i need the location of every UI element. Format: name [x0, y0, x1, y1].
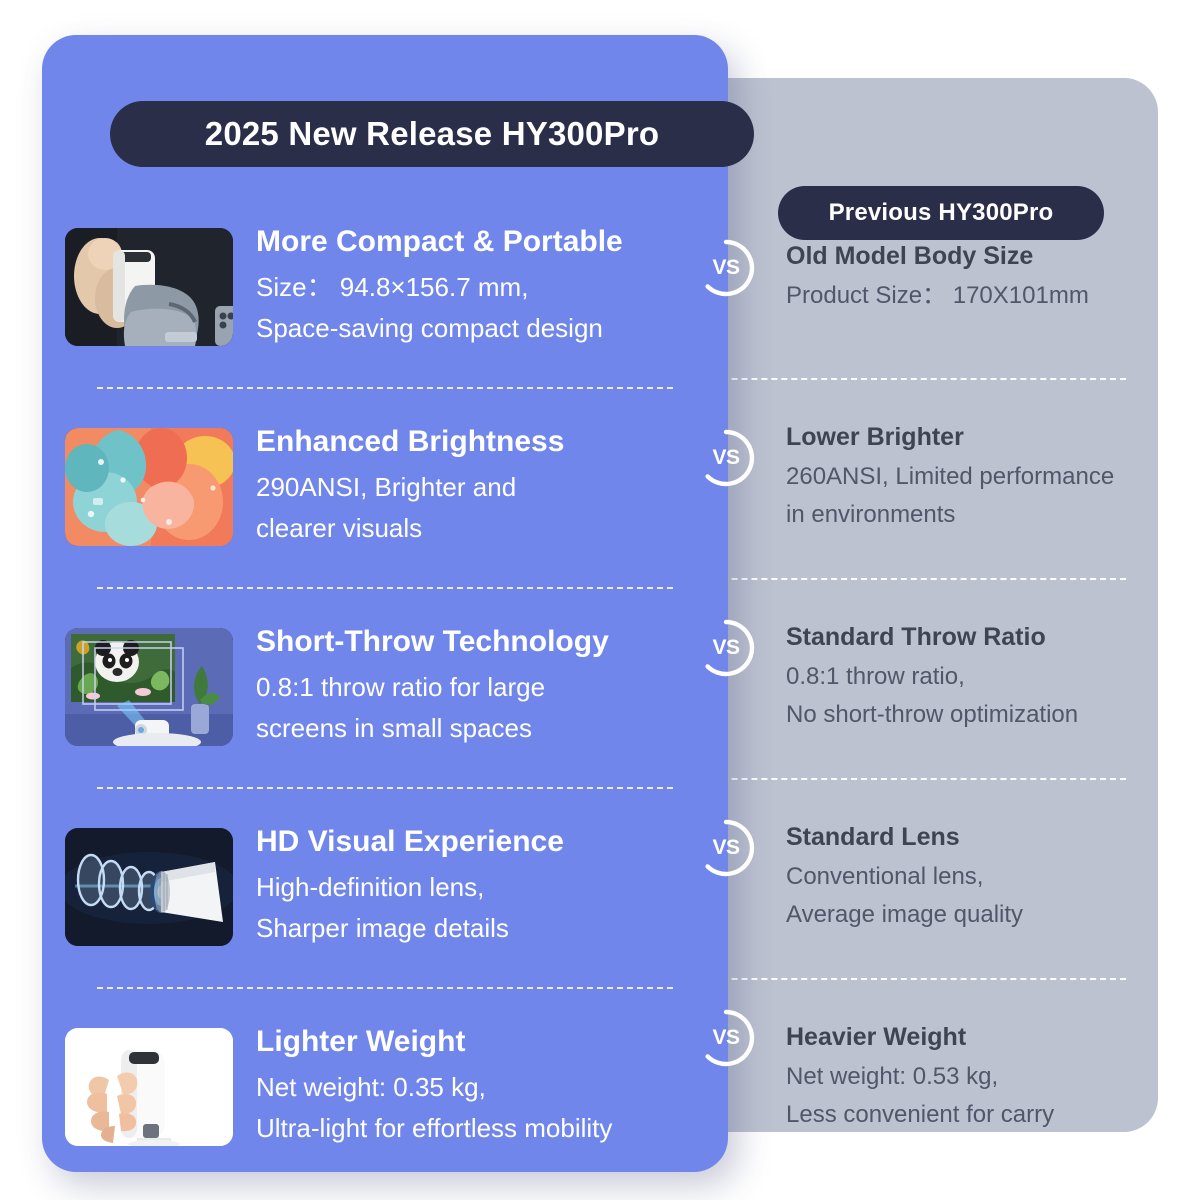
- vs-badge-label: VS: [696, 618, 756, 678]
- projector-panda-screen-photo: [65, 628, 233, 746]
- previous-row-line: 0.8:1 throw ratio,: [786, 658, 1158, 696]
- new-row-text: Lighter Weight Net weight: 0.35 kg, Ultr…: [256, 1025, 612, 1150]
- new-row-line: Net weight: 0.35 kg,: [256, 1067, 612, 1108]
- lens-exploded-view-photo: [65, 828, 233, 946]
- vs-badge-4: VS: [696, 818, 756, 878]
- new-row-text: More Compact & Portable Size： 94.8×156.7…: [256, 225, 623, 350]
- projector-in-backpack-photo: [65, 228, 233, 346]
- vs-badge-1: VS: [696, 238, 756, 298]
- previous-row-line: Conventional lens,: [786, 858, 1158, 896]
- comparison-infographic: Previous HY300Pro Old Model Body Size Pr…: [0, 0, 1200, 1200]
- previous-row-line: Product Size： 170X101mm: [786, 277, 1158, 315]
- previous-row-line: Less convenient for carry: [786, 1096, 1158, 1134]
- new-row-title: Lighter Weight: [256, 1025, 612, 1059]
- new-row-line: 290ANSI, Brighter and: [256, 467, 564, 508]
- new-row-enhanced-brightness: Enhanced Brightness 290ANSI, Brighter an…: [42, 387, 728, 587]
- new-row-short-throw: Short-Throw Technology 0.8:1 throw ratio…: [42, 587, 728, 787]
- previous-row-title: Old Model Body Size: [786, 241, 1158, 271]
- new-model-header-pill: 2025 New Release HY300Pro: [110, 101, 754, 167]
- new-row-line: Space-saving compact design: [256, 308, 623, 349]
- new-row-text: HD Visual Experience High-definition len…: [256, 825, 564, 950]
- vs-badge-label: VS: [696, 238, 756, 298]
- new-row-lighter-weight: Lighter Weight Net weight: 0.35 kg, Ultr…: [42, 987, 728, 1187]
- vs-badge-label: VS: [696, 818, 756, 878]
- new-row-compact-portable: More Compact & Portable Size： 94.8×156.7…: [42, 187, 728, 387]
- new-row-line: High-definition lens,: [256, 867, 564, 908]
- new-row-line: 0.8:1 throw ratio for large: [256, 667, 609, 708]
- new-row-title: More Compact & Portable: [256, 225, 623, 259]
- colorful-flowers-photo: [65, 428, 233, 546]
- previous-row-line: in environments: [786, 496, 1158, 534]
- new-row-line: Sharper image details: [256, 908, 564, 949]
- previous-row-title: Heavier Weight: [786, 1022, 1158, 1052]
- previous-row-title: Standard Throw Ratio: [786, 622, 1158, 652]
- previous-row-title: Standard Lens: [786, 822, 1158, 852]
- new-model-panel: 2025 New Release HY300Pro: [42, 35, 728, 1172]
- previous-row-title: Lower Brighter: [786, 422, 1158, 452]
- new-model-row-list: More Compact & Portable Size： 94.8×156.7…: [42, 187, 728, 1187]
- new-row-text: Enhanced Brightness 290ANSI, Brighter an…: [256, 425, 564, 550]
- new-row-line: Size： 94.8×156.7 mm,: [256, 267, 623, 308]
- previous-row-line: Average image quality: [786, 896, 1158, 934]
- new-model-header-label: 2025 New Release HY300Pro: [205, 115, 659, 153]
- new-row-title: Short-Throw Technology: [256, 625, 609, 659]
- hand-holding-projector-photo: [65, 1028, 233, 1146]
- vs-badge-label: VS: [696, 428, 756, 488]
- vs-badge-2: VS: [696, 428, 756, 488]
- previous-row-line: 260ANSI, Limited performance: [786, 458, 1158, 496]
- new-row-title: Enhanced Brightness: [256, 425, 564, 459]
- new-row-title: HD Visual Experience: [256, 825, 564, 859]
- vs-badge-label: VS: [696, 1008, 756, 1068]
- previous-row-line: No short-throw optimization: [786, 696, 1158, 734]
- new-row-line: clearer visuals: [256, 508, 564, 549]
- new-row-text: Short-Throw Technology 0.8:1 throw ratio…: [256, 625, 609, 750]
- new-row-hd-visual: HD Visual Experience High-definition len…: [42, 787, 728, 987]
- previous-row-line: Net weight: 0.53 kg,: [786, 1058, 1158, 1096]
- vs-badge-5: VS: [696, 1008, 756, 1068]
- vs-badge-3: VS: [696, 618, 756, 678]
- new-row-line: screens in small spaces: [256, 708, 609, 749]
- new-row-line: Ultra-light for effortless mobility: [256, 1108, 612, 1149]
